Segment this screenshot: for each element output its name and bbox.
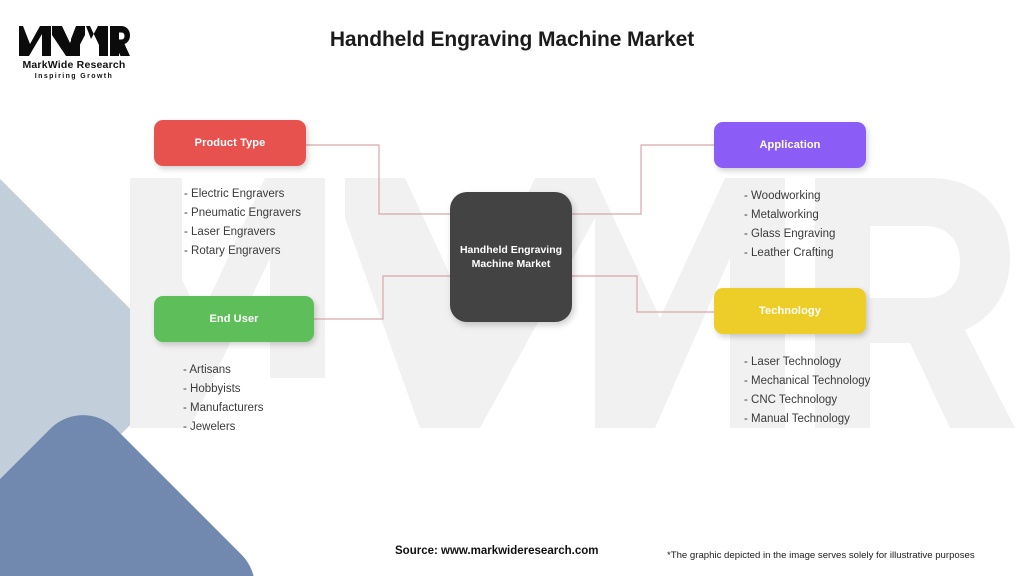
branch-product-type: Product Type - Electric Engravers - Pneu… bbox=[154, 120, 306, 260]
connector-technology bbox=[571, 276, 714, 312]
infographic-canvas: MarkWide Research Inspiring Growth Handh… bbox=[0, 0, 1024, 576]
list-item: - Jewelers bbox=[183, 418, 314, 437]
branch-end-user: End User - Artisans - Hobbyists - Manufa… bbox=[154, 296, 314, 436]
center-hub-label: Handheld Engraving Machine Market bbox=[460, 243, 562, 271]
branch-application-items: - Woodworking - Metalworking - Glass Eng… bbox=[714, 187, 866, 262]
branch-product-type-header[interactable]: Product Type bbox=[154, 120, 306, 166]
list-item: - CNC Technology bbox=[744, 391, 870, 410]
list-item: - Manual Technology bbox=[744, 410, 870, 429]
logo-tagline: Inspiring Growth bbox=[18, 73, 130, 80]
list-item: - Glass Engraving bbox=[744, 225, 866, 244]
list-item: - Electric Engravers bbox=[184, 185, 306, 204]
disclaimer-text: *The graphic depicted in the image serve… bbox=[667, 550, 975, 561]
list-item: - Pneumatic Engravers bbox=[184, 204, 306, 223]
list-item: - Laser Engravers bbox=[184, 223, 306, 242]
logo-company-name: MarkWide Research bbox=[18, 59, 130, 71]
list-item: - Leather Crafting bbox=[744, 244, 866, 263]
list-item: - Hobbyists bbox=[183, 380, 314, 399]
connector-end-user bbox=[314, 276, 451, 319]
branch-application: Application - Woodworking - Metalworking… bbox=[714, 122, 866, 262]
list-item: - Metalworking bbox=[744, 206, 866, 225]
branch-end-user-label: End User bbox=[209, 313, 258, 325]
source-label[interactable]: Source: www.markwideresearch.com bbox=[395, 545, 598, 557]
branch-application-header[interactable]: Application bbox=[714, 122, 866, 168]
branch-technology-header[interactable]: Technology bbox=[714, 288, 866, 334]
list-item: - Manufacturers bbox=[183, 399, 314, 418]
list-item: - Mechanical Technology bbox=[744, 372, 870, 391]
list-item: - Artisans bbox=[183, 361, 314, 380]
list-item: - Woodworking bbox=[744, 187, 866, 206]
branch-product-type-label: Product Type bbox=[195, 137, 266, 149]
branch-technology-items: - Laser Technology - Mechanical Technolo… bbox=[714, 353, 870, 428]
branch-end-user-items: - Artisans - Hobbyists - Manufacturers -… bbox=[154, 361, 314, 436]
branch-technology-label: Technology bbox=[759, 305, 821, 317]
branch-application-label: Application bbox=[760, 139, 821, 151]
page-title: Handheld Engraving Machine Market bbox=[0, 28, 1024, 52]
branch-product-type-items: - Electric Engravers - Pneumatic Engrave… bbox=[154, 185, 306, 260]
branch-end-user-header[interactable]: End User bbox=[154, 296, 314, 342]
list-item: - Rotary Engravers bbox=[184, 242, 306, 261]
list-item: - Laser Technology bbox=[744, 353, 870, 372]
branch-technology: Technology - Laser Technology - Mechanic… bbox=[714, 288, 870, 428]
connector-application bbox=[571, 145, 714, 214]
connector-product-type bbox=[306, 145, 451, 214]
center-hub: Handheld Engraving Machine Market bbox=[450, 192, 572, 322]
